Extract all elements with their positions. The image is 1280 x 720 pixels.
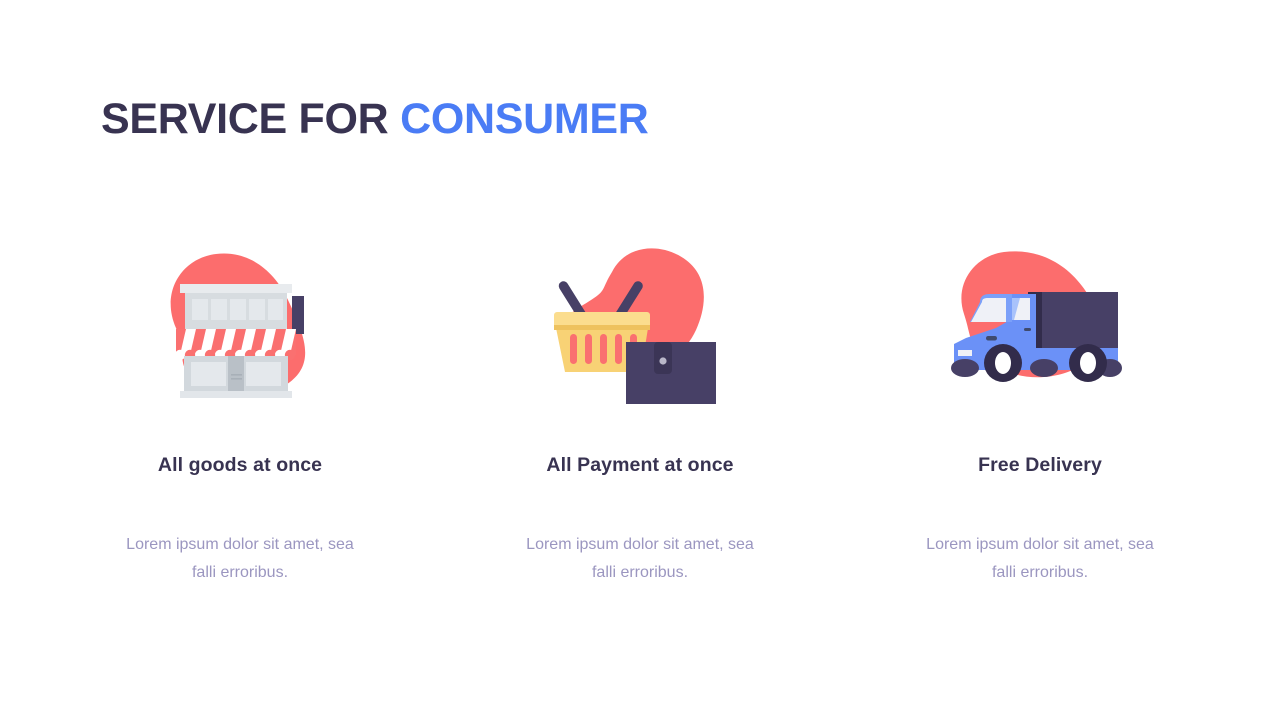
- truck-wheel-front: [984, 344, 1022, 382]
- delivery-truck-illustration: [940, 236, 1140, 406]
- feature-cards-row: All goods at once Lorem ipsum dolor sit …: [0, 236, 1280, 586]
- wallet: [626, 342, 716, 404]
- shop-sign: [292, 296, 304, 334]
- card-body-text: Lorem ipsum dolor sit amet, sea falli er…: [515, 531, 765, 586]
- feature-card-all-goods: All goods at once Lorem ipsum dolor sit …: [40, 236, 440, 586]
- basket-wallet-illustration: [540, 236, 740, 406]
- card-body-text: Lorem ipsum dolor sit amet, sea falli er…: [915, 531, 1165, 586]
- card-title: All Payment at once: [546, 454, 733, 477]
- storefront-illustration: [140, 236, 340, 406]
- feature-card-all-payment: All Payment at once Lorem ipsum dolor si…: [440, 236, 840, 586]
- truck-wheel-rear: [1069, 344, 1107, 382]
- storefront-icon: [140, 236, 340, 406]
- page-title: SERVICE FOR CONSUMER: [101, 95, 649, 144]
- feature-card-free-delivery: Free Delivery Lorem ipsum dolor sit amet…: [840, 236, 1240, 586]
- card-title: Free Delivery: [978, 454, 1102, 477]
- card-body-text: Lorem ipsum dolor sit amet, sea falli er…: [115, 531, 365, 586]
- shopping-basket-wallet-icon: [540, 236, 740, 406]
- page-title-accent: CONSUMER: [400, 95, 648, 143]
- card-title: All goods at once: [158, 454, 322, 477]
- headlight: [958, 350, 972, 356]
- delivery-truck-icon: [940, 236, 1140, 406]
- page-title-primary: SERVICE FOR: [101, 95, 400, 143]
